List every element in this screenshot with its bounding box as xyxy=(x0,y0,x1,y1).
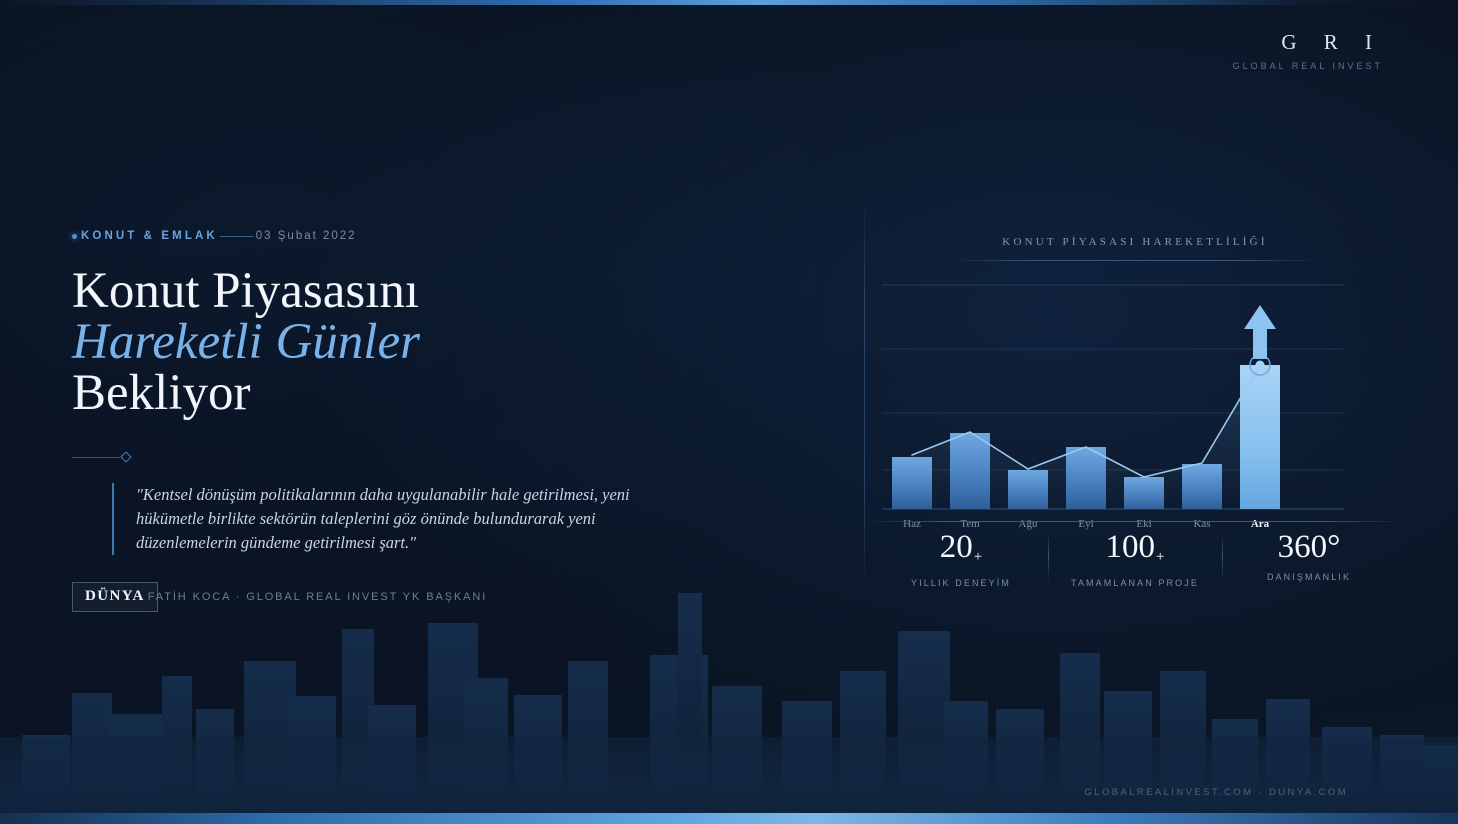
stat-label: DANIŞMANLIK xyxy=(1222,572,1396,582)
headline-accent: Hareketli Günler xyxy=(72,317,772,368)
bar-haz[interactable] xyxy=(892,457,932,509)
divider-line xyxy=(72,457,120,458)
chart-title: KONUT PİYASASI HAREKETLİLİĞİ xyxy=(874,236,1396,260)
xlabel-0: Haz xyxy=(903,518,921,530)
stat-suffix: + xyxy=(1156,549,1164,565)
pull-quote: "Kentsel dönüşüm politikalarının daha uy… xyxy=(112,483,646,555)
attribution-text: FATİH KOCA · GLOBAL REAL INVEST YK BAŞKA… xyxy=(148,591,487,603)
bar-kas[interactable] xyxy=(1182,464,1222,509)
xlabel-5: Kas xyxy=(1193,518,1210,530)
chart-title-rule xyxy=(951,260,1319,261)
headline-divider xyxy=(72,453,182,461)
footer-urls: GLOBALREALİNVEST.COM · DUNYA.COM xyxy=(1085,787,1349,798)
headline-line-3: Bekliyor xyxy=(72,368,772,419)
kicker-label: KONUT & EMLAK xyxy=(81,230,218,242)
bar-agu[interactable] xyxy=(1008,470,1048,509)
top-accent-bar xyxy=(0,0,1458,5)
dot-icon xyxy=(72,234,77,239)
stats-divider xyxy=(874,521,1396,522)
bar-tem[interactable] xyxy=(950,433,990,509)
article-column: KONUT & EMLAK 03 Şubat 2022 Konut Piyasa… xyxy=(72,228,772,612)
headline-line-1: Konut Piyasasını xyxy=(72,266,772,317)
stat-value: 360° xyxy=(1222,530,1396,564)
diamond-icon xyxy=(120,451,131,462)
bar-eyl[interactable] xyxy=(1066,447,1106,509)
chart-area: Haz Tem Ağu Eyl Eki Kas Ara xyxy=(874,267,1396,535)
trend-endpoint-dot xyxy=(1256,361,1265,370)
bottom-accent-bar xyxy=(0,813,1458,824)
bar-ara[interactable] xyxy=(1240,365,1280,509)
stat-item: 360° DANIŞMANLIK xyxy=(1222,530,1396,588)
xlabel-2: Ağu xyxy=(1019,518,1038,530)
stat-suffix: ° xyxy=(1327,529,1340,565)
brand-subtitle: GLOBAL REAL INVEST xyxy=(1230,61,1383,71)
up-arrow-icon xyxy=(1244,305,1276,359)
stat-number: 100 xyxy=(1106,529,1156,565)
page-title: Konut Piyasasını Hareketli Günler Bekliy… xyxy=(72,266,772,419)
xlabel-6: Ara xyxy=(1251,518,1270,530)
stat-number: 20 xyxy=(940,529,973,565)
source-badge: DÜNYA xyxy=(72,582,158,612)
stat-value: 20+ xyxy=(874,530,1048,570)
quote-text: "Kentsel dönüşüm politikalarının daha uy… xyxy=(136,483,646,555)
column-separator xyxy=(864,196,865,592)
stat-item: 100+ TAMAMLANAN PROJE xyxy=(1048,530,1222,588)
article-date: 03 Şubat 2022 xyxy=(256,230,357,242)
stat-suffix: + xyxy=(974,549,982,565)
bar-eki[interactable] xyxy=(1124,477,1164,509)
article-kicker: KONUT & EMLAK 03 Şubat 2022 xyxy=(72,228,772,244)
stat-label: YILLIK DENEYİM xyxy=(874,578,1048,588)
brand-mark: G R I xyxy=(1230,30,1383,55)
stat-value: 100+ xyxy=(1048,530,1222,570)
attribution-row: DÜNYA FATİH KOCA · GLOBAL REAL INVEST YK… xyxy=(72,582,772,612)
xlabel-3: Eyl xyxy=(1078,518,1093,530)
housing-activity-bar-chart: Haz Tem Ağu Eyl Eki Kas Ara xyxy=(874,267,1396,535)
promo-graphic: G R I GLOBAL REAL INVEST KONUT & EMLAK 0… xyxy=(0,0,1458,824)
stat-item: 20+ YILLIK DENEYİM xyxy=(874,530,1048,588)
stat-label: TAMAMLANAN PROJE xyxy=(1048,578,1222,588)
kicker-rule xyxy=(220,236,254,237)
stat-number: 360 xyxy=(1278,529,1328,565)
brand-lockup: G R I GLOBAL REAL INVEST xyxy=(1230,30,1383,71)
stats-row: 20+ YILLIK DENEYİM 100+ TAMAMLANAN PROJE… xyxy=(874,530,1396,588)
chart-panel: KONUT PİYASASI HAREKETLİLİĞİ xyxy=(874,236,1396,535)
